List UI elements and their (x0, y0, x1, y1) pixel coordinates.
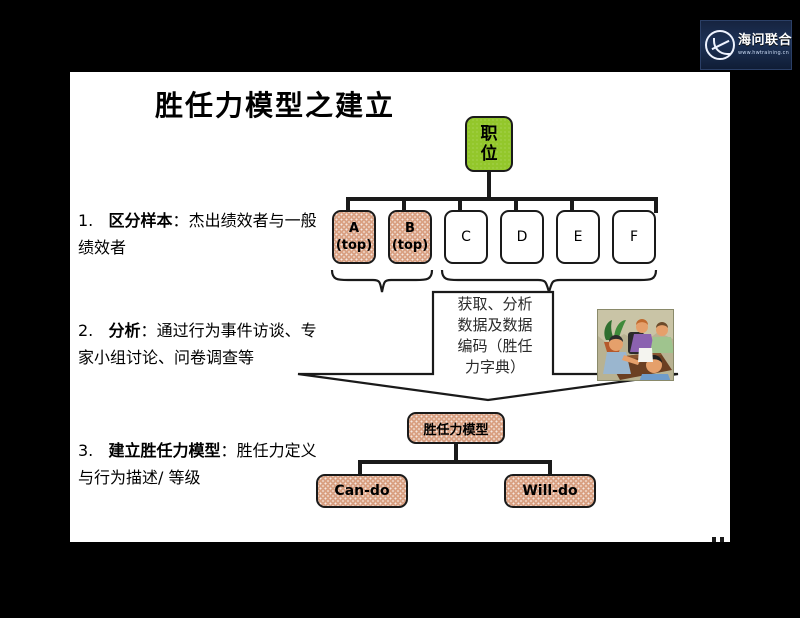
org-node-e-label: E (574, 229, 583, 245)
arrow-line-1: 获取、分析 (436, 294, 554, 315)
org-node-root: 职 位 (465, 116, 513, 172)
bullet-keyword: 分析 (109, 321, 141, 340)
org-node-b-line2: (top) (392, 237, 428, 254)
connector-model-bus (358, 460, 552, 464)
brand-logo: 海问联合 www.hwtraining.cn (700, 20, 792, 70)
org-node-b-line1: B (392, 220, 428, 237)
edge-mark-2 (720, 537, 724, 542)
edge-mark-1 (712, 537, 716, 542)
arrow-line-3: 编码（胜任 (436, 336, 554, 357)
bullet-separator: ： (141, 321, 157, 340)
bullet-number: 3. (78, 441, 93, 460)
process-arrow-label: 获取、分析 数据及数据 编码（胜任 力字典） (436, 294, 554, 378)
page-title: 胜任力模型之建立 (155, 84, 395, 124)
connector-bus (346, 197, 658, 201)
connector-drop-f (654, 197, 658, 213)
bullet-number: 1. (78, 211, 93, 230)
org-node-f-label: F (630, 229, 638, 245)
org-node-a-line2: (top) (336, 237, 372, 254)
org-node-root-line1: 职 (481, 124, 498, 144)
org-node-model-label: 胜任力模型 (423, 419, 488, 438)
org-node-can-do: Can-do (316, 474, 408, 508)
slide-canvas: 胜任力模型之建立 1. 区分样本：杰出绩效者与一般绩效者 2. 分析：通过行为事… (70, 72, 730, 542)
org-node-model: 胜任力模型 (407, 412, 505, 444)
org-node-f: F (612, 210, 656, 264)
connector-root-stem (487, 172, 491, 199)
brand-url: www.hwtraining.cn (738, 50, 792, 57)
org-node-d: D (500, 210, 544, 264)
org-node-b: B (top) (388, 210, 432, 264)
brand-name: 海问联合 (738, 33, 792, 48)
org-node-c-label: C (461, 229, 471, 245)
bullet-item-1: 1. 区分样本：杰出绩效者与一般绩效者 (78, 207, 328, 261)
arrow-line-2: 数据及数据 (436, 315, 554, 336)
org-node-can-do-label: Can-do (334, 483, 389, 499)
business-meeting-illustration (597, 309, 674, 381)
bullet-separator: ： (221, 441, 237, 460)
bullet-keyword: 建立胜任力模型 (109, 441, 221, 460)
bullet-keyword: 区分样本 (109, 211, 173, 230)
circle-monogram-icon (705, 30, 735, 60)
org-node-a-line1: A (336, 220, 372, 237)
slide-viewer: 海问联合 www.hwtraining.cn 胜任力模型之建立 1. 区分样本：… (0, 0, 800, 618)
bullet-separator: ： (173, 211, 189, 230)
org-node-root-line2: 位 (481, 144, 498, 164)
org-node-will-do-label: Will-do (522, 483, 577, 499)
org-node-c: C (444, 210, 488, 264)
org-node-will-do: Will-do (504, 474, 596, 508)
org-node-e: E (556, 210, 600, 264)
arrow-line-4: 力字典） (436, 357, 554, 378)
bullet-item-3: 3. 建立胜任力模型：胜任力定义与行为描述/ 等级 (78, 437, 328, 491)
org-node-d-label: D (517, 229, 528, 245)
brand-text: 海问联合 www.hwtraining.cn (738, 33, 792, 57)
bullet-number: 2. (78, 321, 93, 340)
org-node-a: A (top) (332, 210, 376, 264)
